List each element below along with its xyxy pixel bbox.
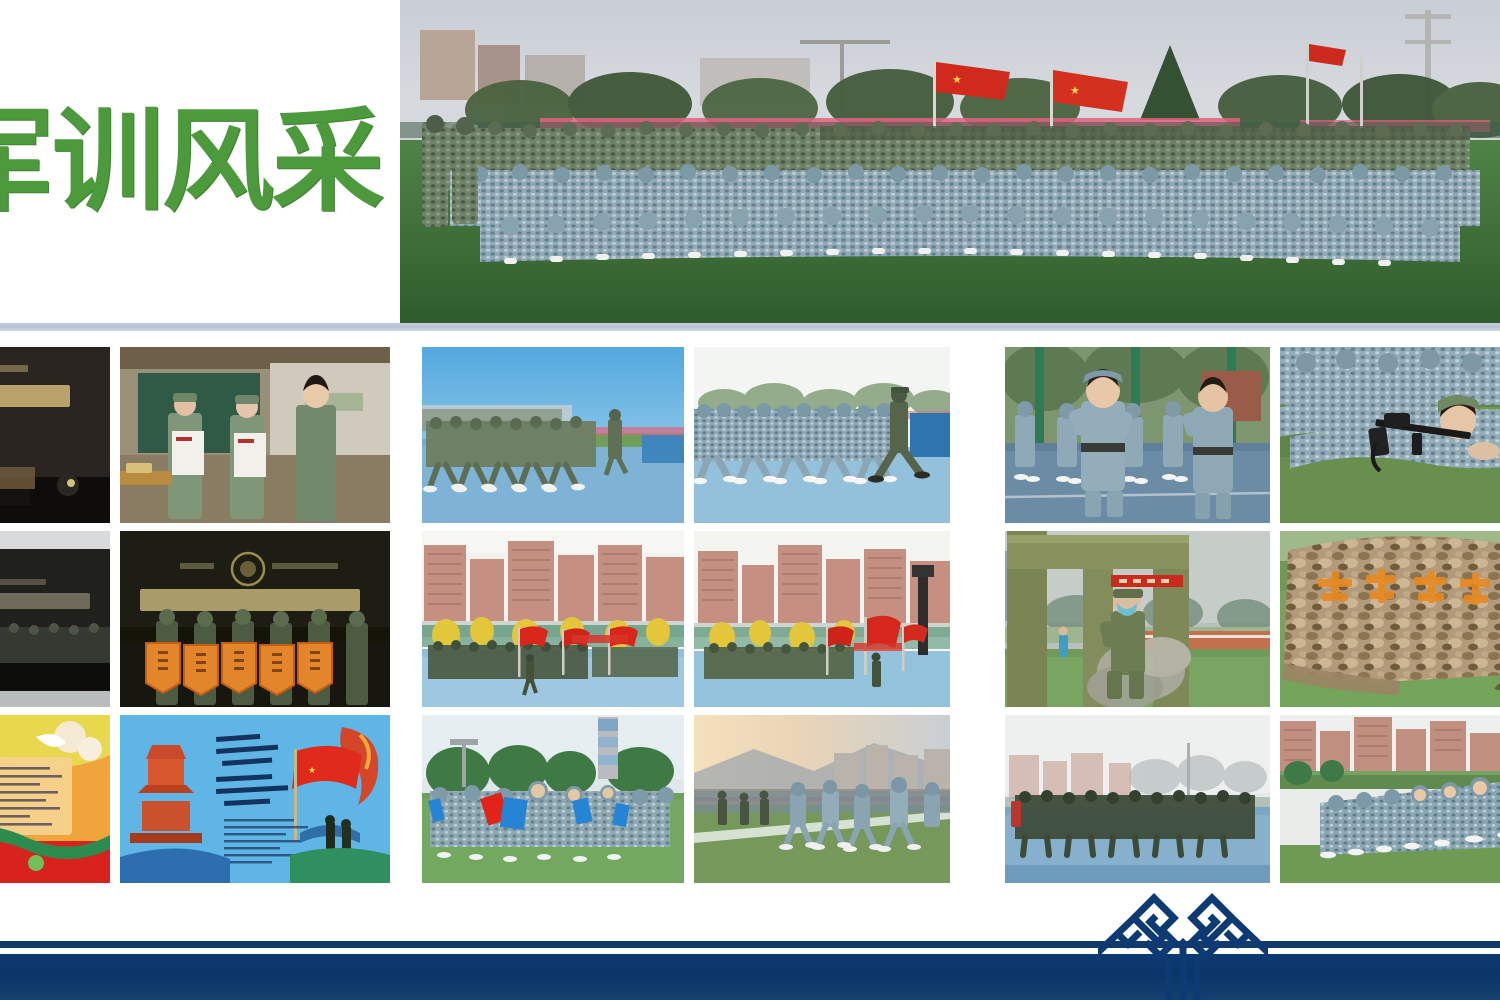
left-row-3: ★ [0,715,390,883]
photo-l2b[interactable] [120,531,390,707]
camouflage-tent [1282,536,1500,695]
middle-column [422,347,950,891]
middle-row-2 [422,531,950,707]
right-row-2 [1005,531,1500,707]
left-column: ★ [0,347,390,891]
photo-m2a[interactable] [422,531,684,707]
photo-r3b[interactable] [1280,715,1500,883]
section-separator [0,323,1500,331]
photo-m3b[interactable] [694,715,950,883]
photo-l2a[interactable] [0,531,110,707]
hero-band: 军训风采 [0,0,1500,323]
right-column [1005,347,1500,891]
photo-m3a[interactable] [422,715,684,883]
middle-row-1 [422,347,950,523]
left-row-1 [0,347,390,523]
right-row-3 [1005,715,1500,883]
photo-r1b[interactable] [1280,347,1500,523]
footer-band [0,954,1500,1000]
photo-l3a[interactable] [0,715,110,883]
hero-photo-render: ★ ★ [400,0,1500,323]
slide-title-area: 军训风采 [0,0,400,323]
photo-m1a[interactable] [422,347,684,523]
left-row-2 [0,531,390,707]
svg-text:★: ★ [1070,84,1080,97]
svg-text:★: ★ [308,766,316,776]
photo-l1b[interactable] [120,347,390,523]
photo-r3a[interactable] [1005,715,1270,883]
photo-r2b[interactable] [1280,531,1500,707]
footer-accent-line [0,941,1500,948]
photo-m1b[interactable] [694,347,950,523]
page-title: 军训风采 [0,106,382,218]
meander-ornament-icon [1098,884,1268,1000]
hero-photo-group-shot: ★ ★ [400,0,1500,323]
presentation-slide: 军训风采 [0,0,1500,1000]
photo-r2a[interactable] [1005,531,1270,707]
middle-row-3 [422,715,950,883]
photo-gallery: ★ [0,347,1500,896]
photo-m2b[interactable] [694,531,950,707]
photo-l3b[interactable]: ★ [120,715,390,883]
svg-text:★: ★ [952,73,962,86]
right-row-1 [1005,347,1500,523]
photo-l1a[interactable] [0,347,110,523]
photo-r1a[interactable] [1005,347,1270,523]
